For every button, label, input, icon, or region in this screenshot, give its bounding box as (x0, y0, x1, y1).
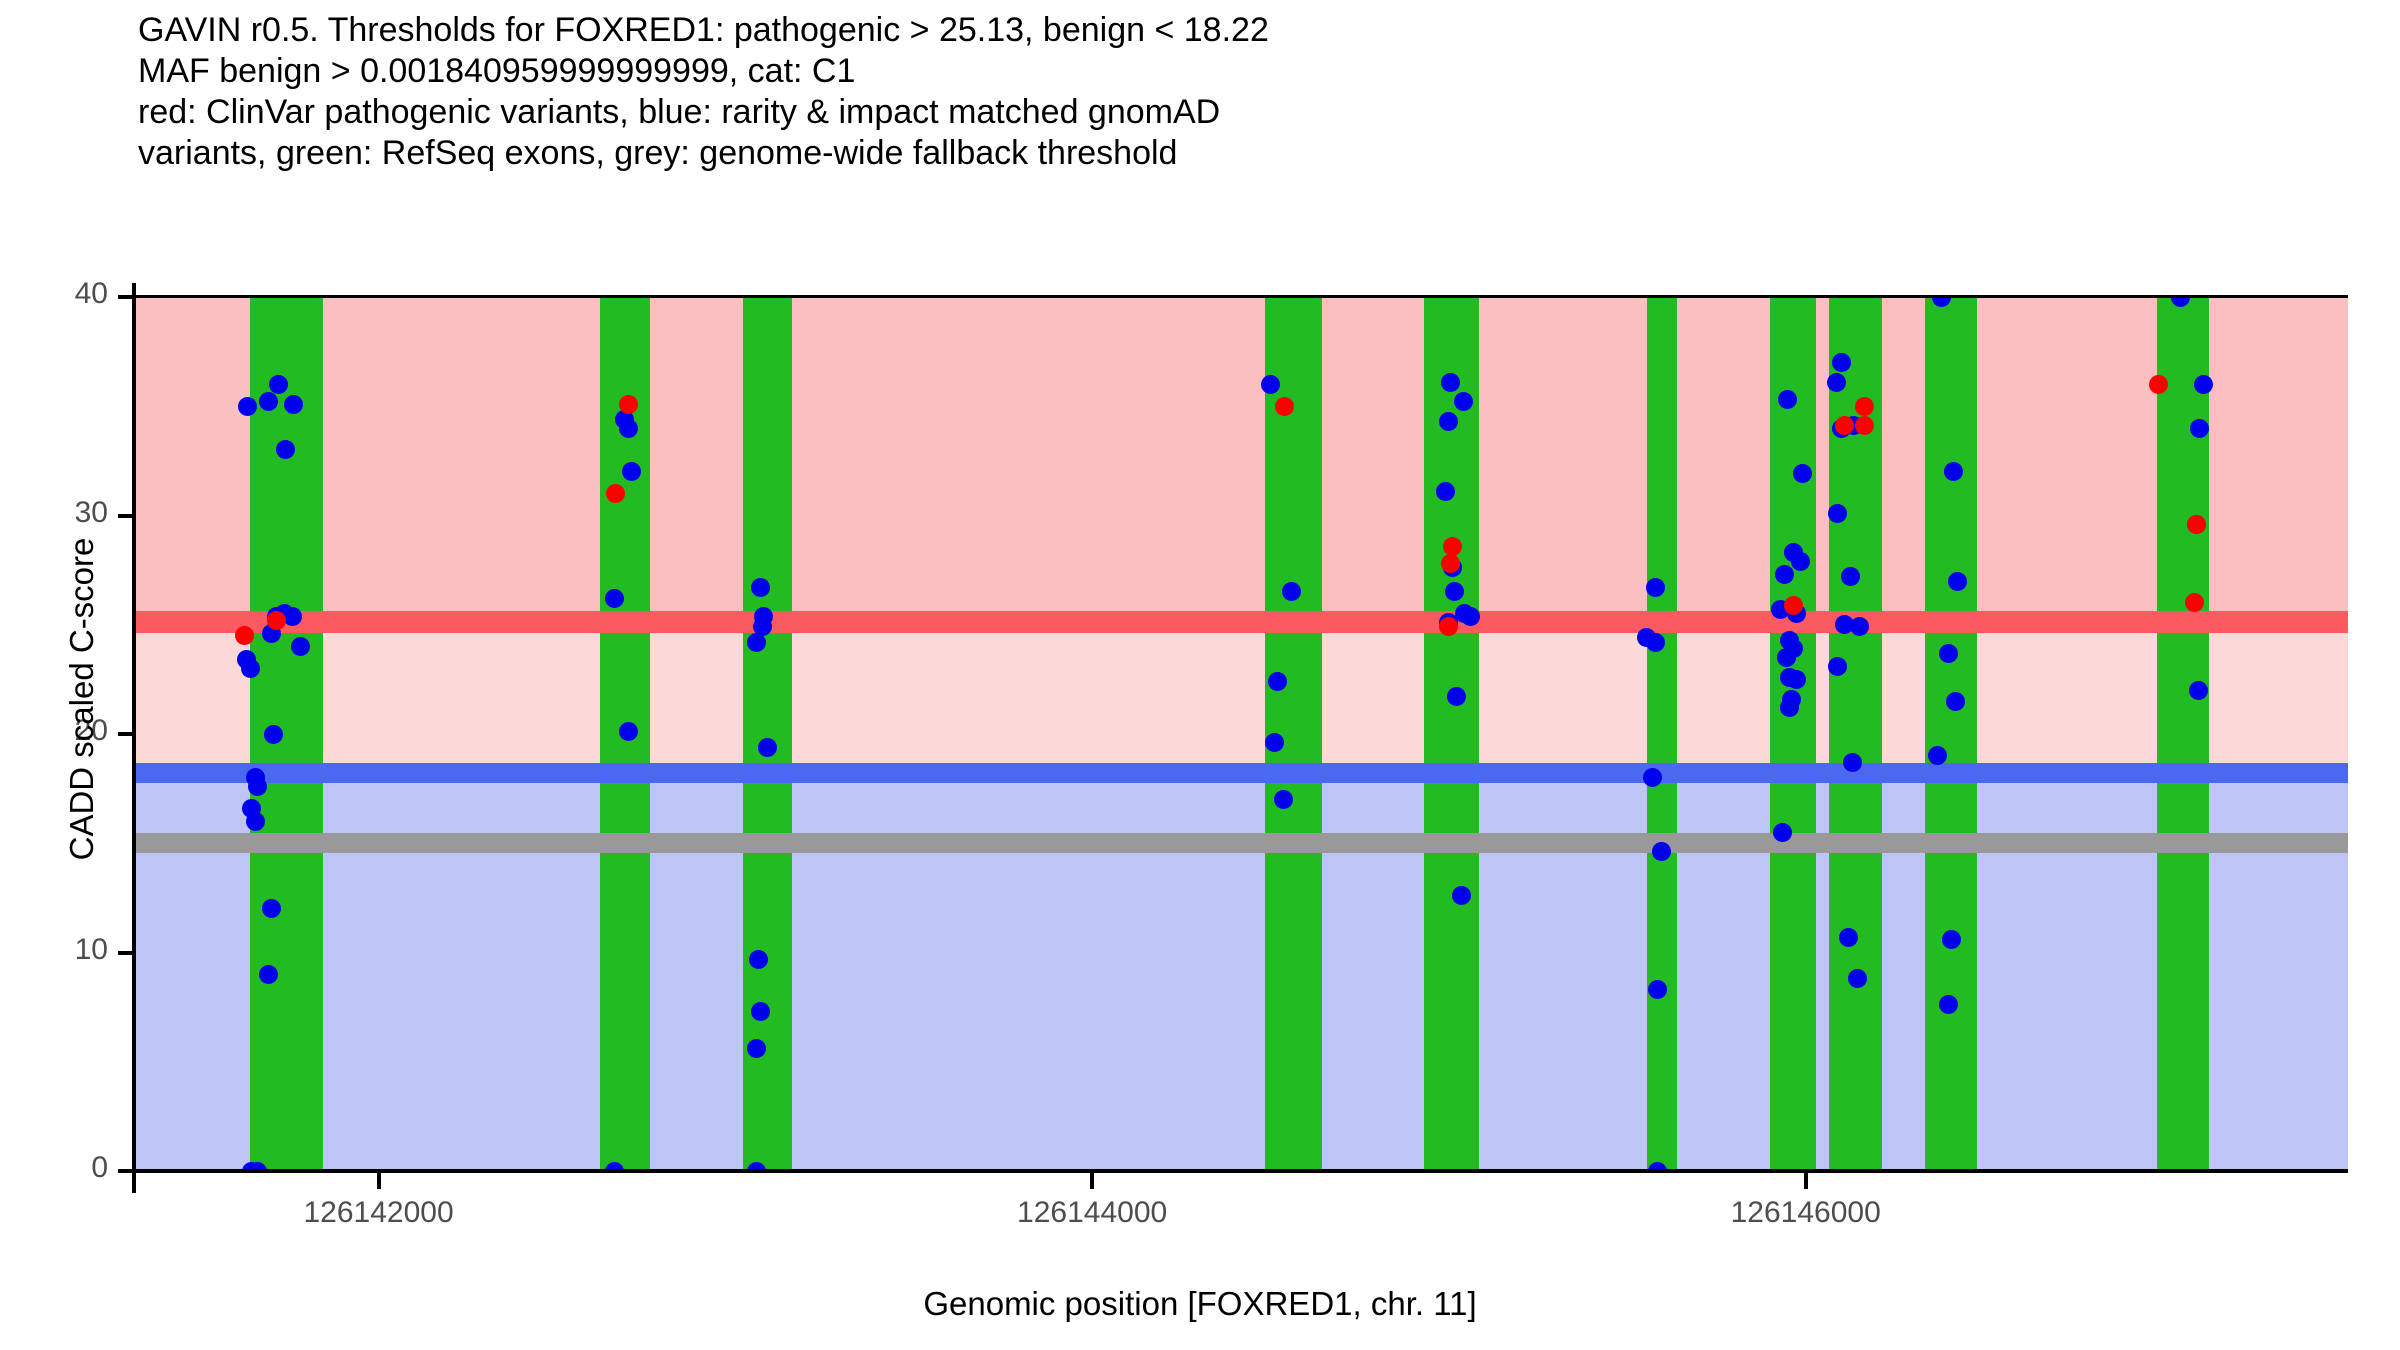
x-tick-mark (1804, 1173, 1808, 1189)
data-point (1441, 373, 1460, 392)
data-point (259, 392, 278, 411)
data-point (1793, 464, 1812, 483)
data-point (1777, 648, 1796, 667)
data-point (1828, 504, 1847, 523)
data-point (1773, 823, 1792, 842)
x-axis-line (132, 1169, 2348, 1173)
title-line-3: red: ClinVar pathogenic variants, blue: … (138, 92, 2338, 133)
y-tick-mark (118, 1169, 134, 1173)
data-point (1828, 657, 1847, 676)
data-point (238, 397, 257, 416)
data-point (248, 777, 267, 796)
x-tick-label: 126146000 (1656, 1196, 1956, 1230)
data-point (1261, 375, 1280, 394)
data-point (753, 617, 772, 636)
exon-band (1770, 297, 1816, 1171)
y-axis-line (132, 283, 136, 1193)
data-point (1946, 692, 1965, 711)
exon-band (1925, 297, 1977, 1171)
y-axis-label: CADD scaled C-score (63, 349, 101, 1049)
data-point (1775, 565, 1794, 584)
data-point (749, 950, 768, 969)
data-point (751, 1002, 770, 1021)
data-point (747, 1039, 766, 1058)
data-point (2189, 681, 2208, 700)
data-point (2190, 419, 2209, 438)
data-point (1452, 886, 1471, 905)
data-point (1265, 733, 1284, 752)
data-point (1461, 607, 1480, 626)
title-line-4: variants, green: RefSeq exons, grey: gen… (138, 133, 2338, 174)
x-axis-label: Genomic position [FOXRED1, chr. 11] (0, 1285, 2400, 1323)
data-point (1436, 482, 1455, 501)
data-point (1841, 567, 1860, 586)
data-point (1832, 353, 1851, 372)
chart-title-block: GAVIN r0.5. Thresholds for FOXRED1: path… (138, 10, 2338, 174)
y-tick-mark (118, 732, 134, 736)
panel-top-border (136, 295, 2348, 298)
y-tick-mark (118, 514, 134, 518)
data-point (1939, 644, 1958, 663)
data-point (1784, 596, 1803, 615)
background-band-pathogenic-region (136, 297, 2348, 622)
data-point (1275, 397, 1294, 416)
title-line-1: GAVIN r0.5. Thresholds for FOXRED1: path… (138, 10, 2338, 51)
data-point (1791, 552, 1810, 571)
pathogenic-threshold-line (136, 611, 2348, 633)
data-point (619, 419, 638, 438)
data-point (1646, 633, 1665, 652)
title-line-2: MAF benign > 0.001840959999999999, cat: … (138, 51, 2338, 92)
benign-threshold-line (136, 763, 2348, 783)
data-point (1643, 768, 1662, 787)
data-point (1827, 373, 1846, 392)
data-point (2187, 515, 2206, 534)
data-point (284, 395, 303, 414)
data-point (269, 375, 288, 394)
data-point (751, 578, 770, 597)
y-tick-mark (118, 951, 134, 955)
data-point (1447, 687, 1466, 706)
data-point (1443, 537, 1462, 556)
data-point (1454, 392, 1473, 411)
plot-panel (136, 297, 2348, 1171)
data-point (264, 725, 283, 744)
data-point (1843, 753, 1862, 772)
data-point (1274, 790, 1293, 809)
x-tick-mark (377, 1173, 381, 1189)
x-tick-label: 126142000 (229, 1196, 529, 1230)
x-tick-label: 126144000 (942, 1196, 1242, 1230)
y-tick-mark (118, 295, 134, 299)
background-band-vous-upper-region (136, 622, 2348, 773)
data-point (291, 637, 310, 656)
data-point (758, 738, 777, 757)
fallback-threshold-line (136, 833, 2348, 853)
exon-band (250, 297, 323, 1171)
x-tick-mark (1090, 1173, 1094, 1189)
data-point (241, 659, 260, 678)
data-point (1848, 969, 1867, 988)
data-point (246, 812, 265, 831)
y-tick-label: 40 (12, 277, 108, 311)
data-point (1855, 397, 1874, 416)
data-point (259, 965, 278, 984)
data-point (2194, 375, 2213, 394)
exon-band (1647, 297, 1677, 1171)
data-point (605, 589, 624, 608)
y-tick-label: 0 (12, 1151, 108, 1185)
data-point (1839, 928, 1858, 947)
data-point (619, 395, 638, 414)
data-point (1948, 572, 1967, 591)
